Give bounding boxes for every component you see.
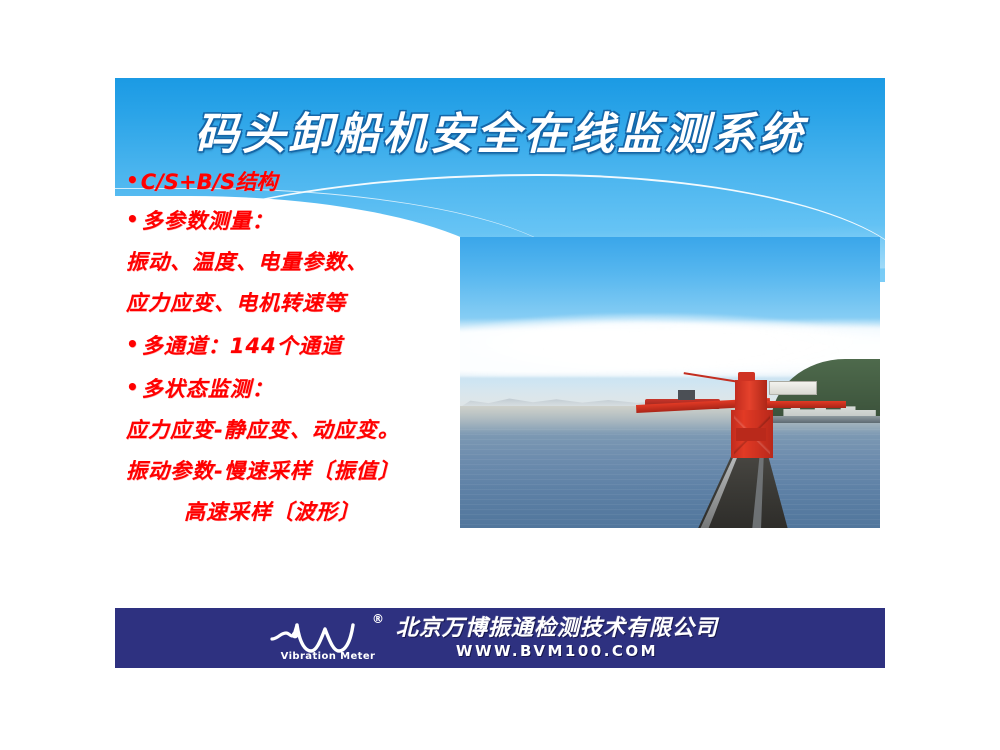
registered-trademark-icon: ®	[372, 613, 384, 625]
photo-sea-ripples	[460, 429, 880, 528]
slide-title: 码头卸船机安全在线监测系统	[115, 98, 885, 162]
bullet-list: C/S+B/S结构 多参数测量： 振动、温度、电量参数、 应力应变、电机转速等 …	[126, 163, 476, 533]
photo-crane-machine-house	[736, 428, 765, 441]
photo-crane-boom-rear	[754, 401, 846, 407]
bullet-item-8: 振动参数-慢速采样〔振值〕	[126, 451, 476, 492]
company-name-cn: 北京万博振通检测技术有限公司	[396, 616, 718, 642]
bullet-item-2: 多参数测量：	[126, 199, 476, 242]
bullet-item-6: 多状态监测：	[126, 367, 476, 410]
bullet-item-7: 应力应变-静应变、动应变。	[126, 410, 476, 451]
company-website: WWW.BVM100.COM	[396, 642, 718, 660]
bullet-item-4: 应力应变、电机转速等	[126, 283, 476, 324]
port-crane-photo	[460, 237, 880, 528]
photo-crane-cap	[738, 372, 755, 381]
logo-wordmark: Vibration Meter	[276, 651, 380, 662]
footer-company-block: 北京万博振通检测技术有限公司 WWW.BVM100.COM	[396, 616, 718, 660]
bullet-item-5: 多通道：144个通道	[126, 324, 476, 367]
bullet-item-9: 高速采样〔波形〕	[126, 492, 476, 533]
vibration-meter-logo: ® Vibration Meter	[270, 615, 382, 661]
footer-content: ® Vibration Meter 北京万博振通检测技术有限公司 WWW.BVM…	[270, 615, 718, 661]
footer-bar: ® Vibration Meter 北京万博振通检测技术有限公司 WWW.BVM…	[115, 608, 885, 668]
bullet-item-1: C/S+B/S结构	[126, 163, 476, 199]
bullet-item-3: 振动、温度、电量参数、	[126, 242, 476, 283]
photo-crane-sign	[769, 381, 817, 395]
slide-canvas: 码头卸船机安全在线监测系统 C/S+B/S结构 多参数测量： 振动、温度、电量参…	[0, 0, 1000, 750]
